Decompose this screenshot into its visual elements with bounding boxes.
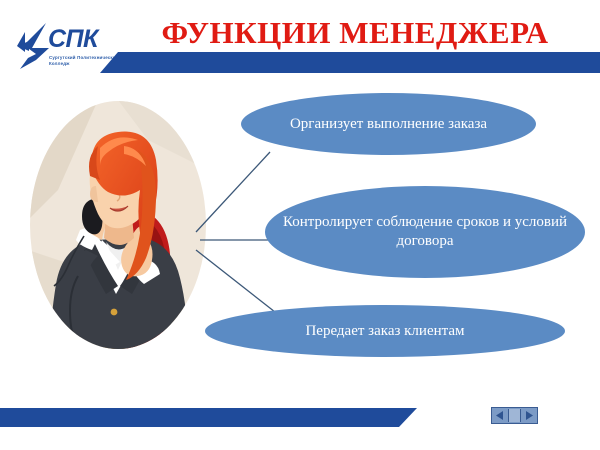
- menu-bar-icon[interactable]: [508, 409, 521, 422]
- slide-canvas: СПК Сургутский Политехнический Колледж Ф…: [0, 0, 600, 450]
- triangle-right-icon[interactable]: [523, 409, 536, 422]
- arrow-mark-icon: [16, 22, 52, 70]
- header-banner: [100, 52, 600, 73]
- logo-wordmark: СПК: [48, 26, 98, 53]
- function-bubble-2-label: Контролирует соблюдение сроков и условий…: [265, 213, 585, 251]
- businesswoman-illustration: [28, 100, 208, 350]
- slide-nav-widget[interactable]: [491, 407, 538, 424]
- triangle-left-icon[interactable]: [493, 409, 506, 422]
- function-bubble-3[interactable]: Передает заказ клиентам: [205, 305, 565, 357]
- function-bubble-2[interactable]: Контролирует соблюдение сроков и условий…: [265, 186, 585, 278]
- footer-banner: [0, 408, 417, 427]
- function-bubble-1-label: Организует выполнение заказа: [276, 115, 501, 134]
- function-bubble-1[interactable]: Организует выполнение заказа: [241, 93, 536, 155]
- function-bubble-3-label: Передает заказ клиентам: [291, 322, 478, 341]
- page-title: ФУНКЦИИ МЕНЕДЖЕРА: [120, 14, 590, 52]
